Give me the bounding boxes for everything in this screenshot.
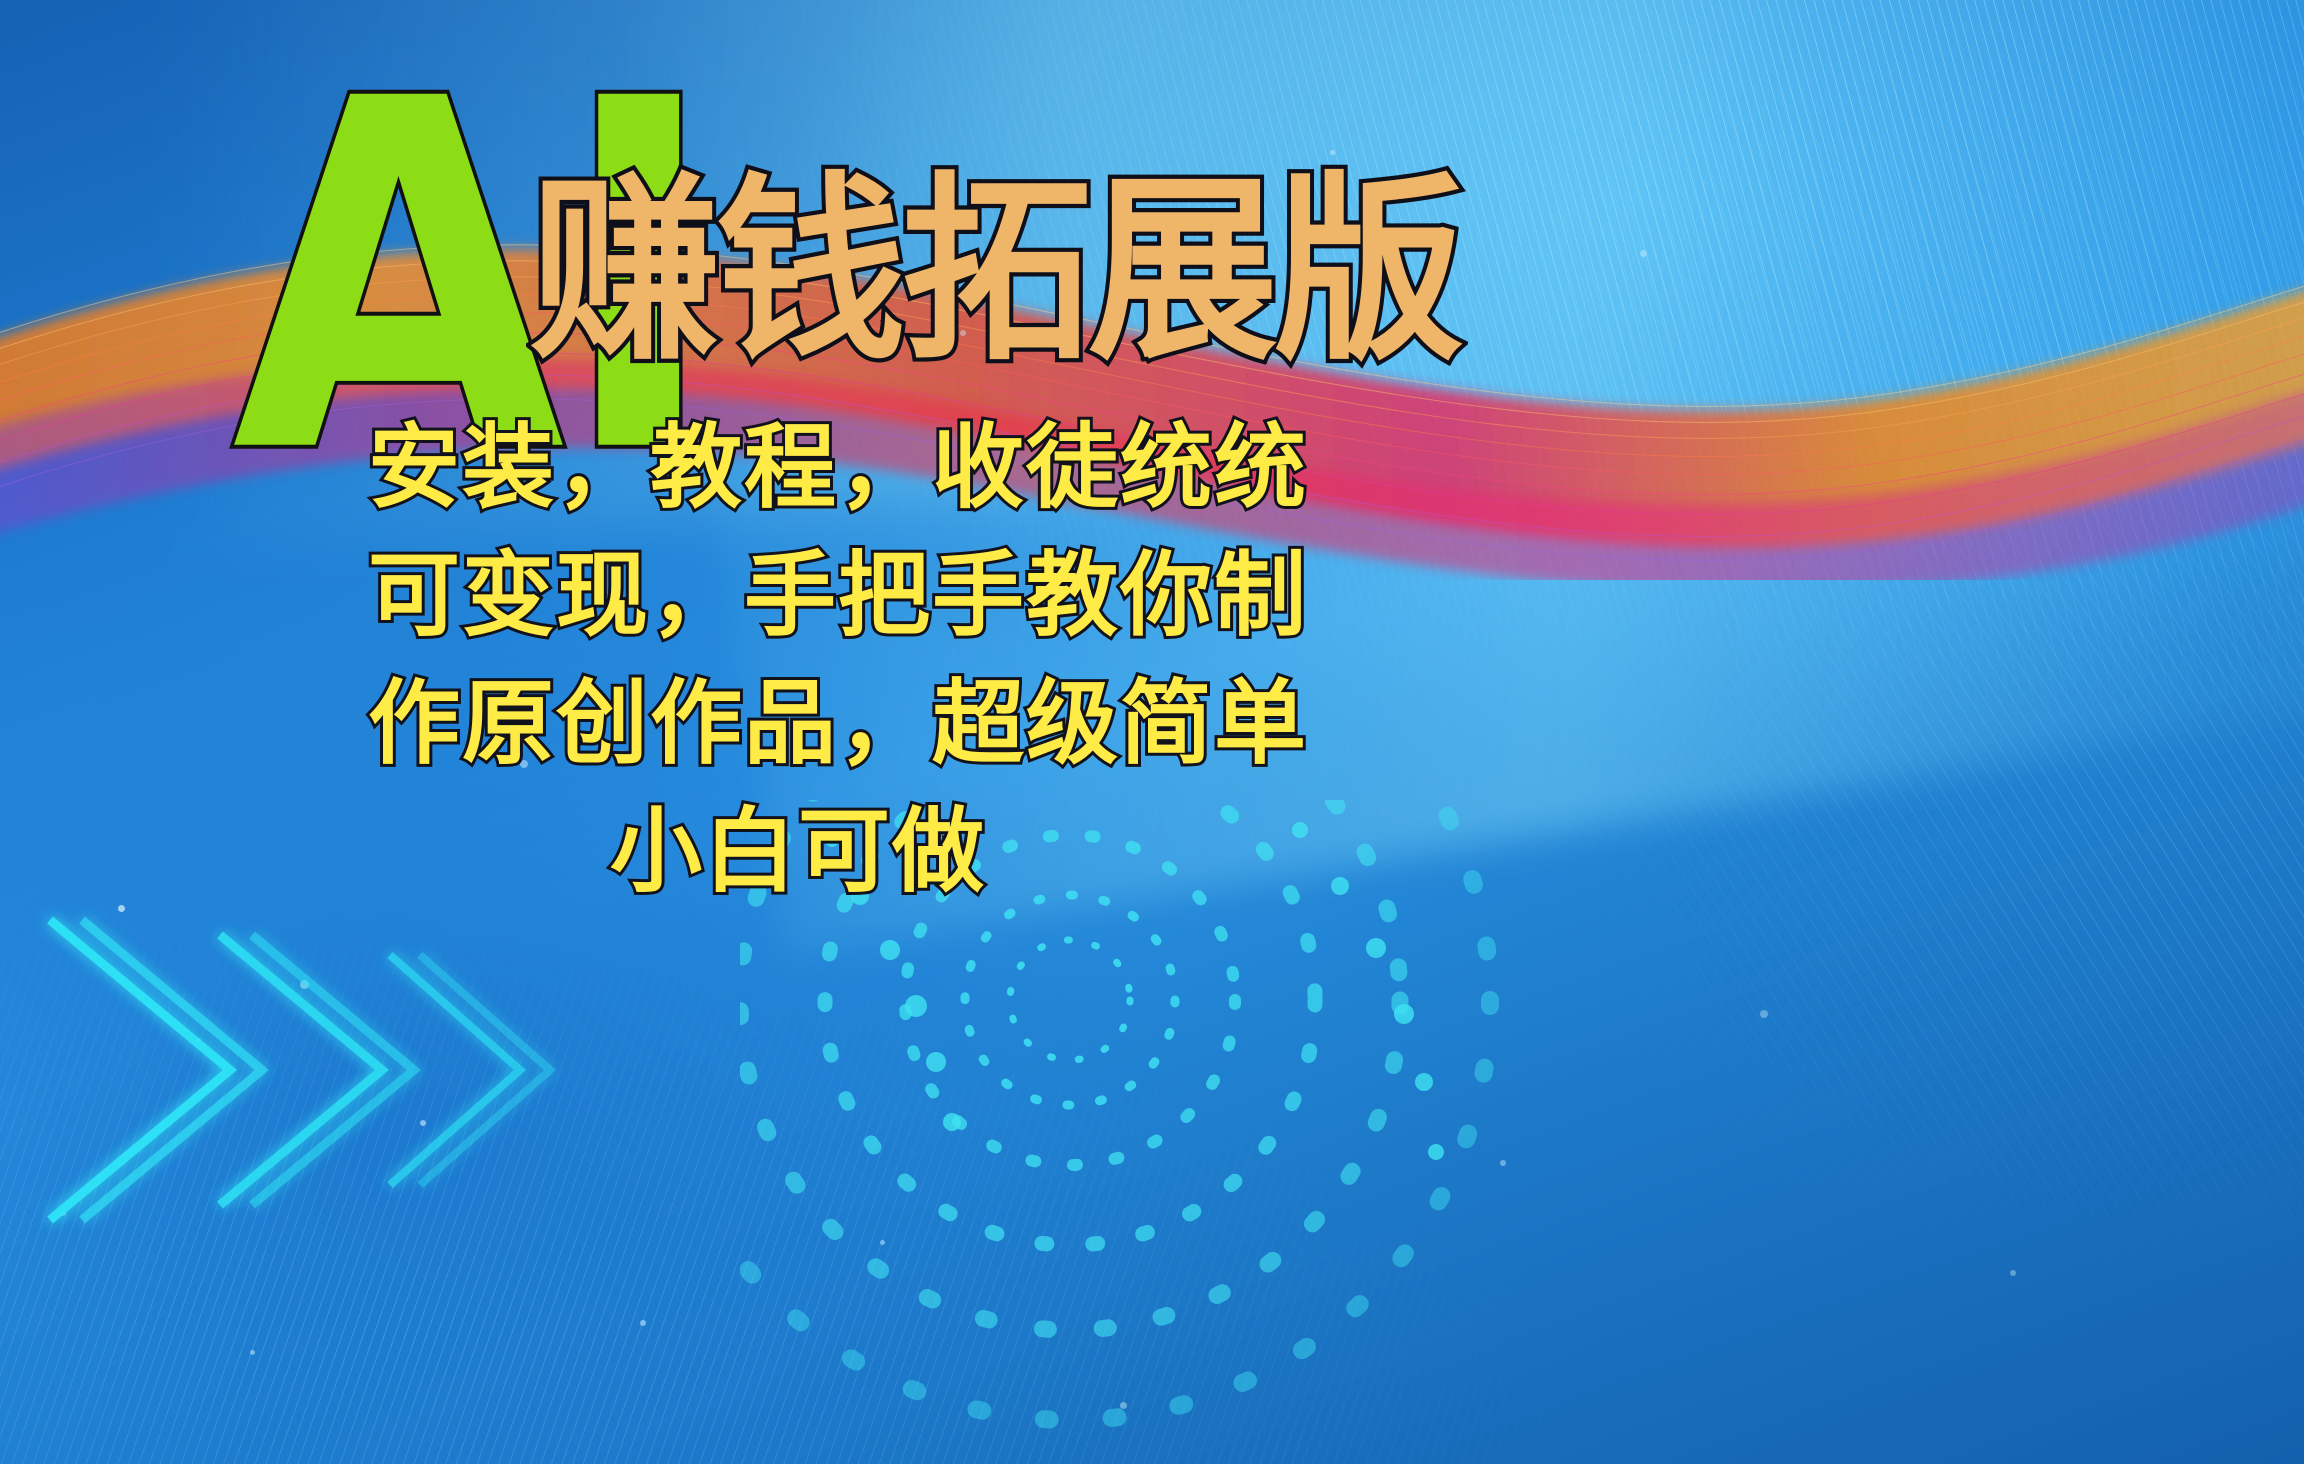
body-line-1: 安装，教程，收徒统统	[368, 404, 1228, 532]
body-line-3: 作原创作品，超级简单	[368, 660, 1228, 788]
banner-canvas: AI 赚钱拓展版 安装，教程，收徒统统 可变现，手把手教你制 作原创作品，超级简…	[0, 0, 2304, 1464]
body-line-2: 可变现，手把手教你制	[368, 532, 1228, 660]
body-text-block: 安装，教程，收徒统统 可变现，手把手教你制 作原创作品，超级简单 小白可做	[368, 404, 1228, 916]
headline-chinese: 赚钱拓展版	[530, 172, 1460, 372]
body-line-4: 小白可做	[368, 788, 1228, 916]
